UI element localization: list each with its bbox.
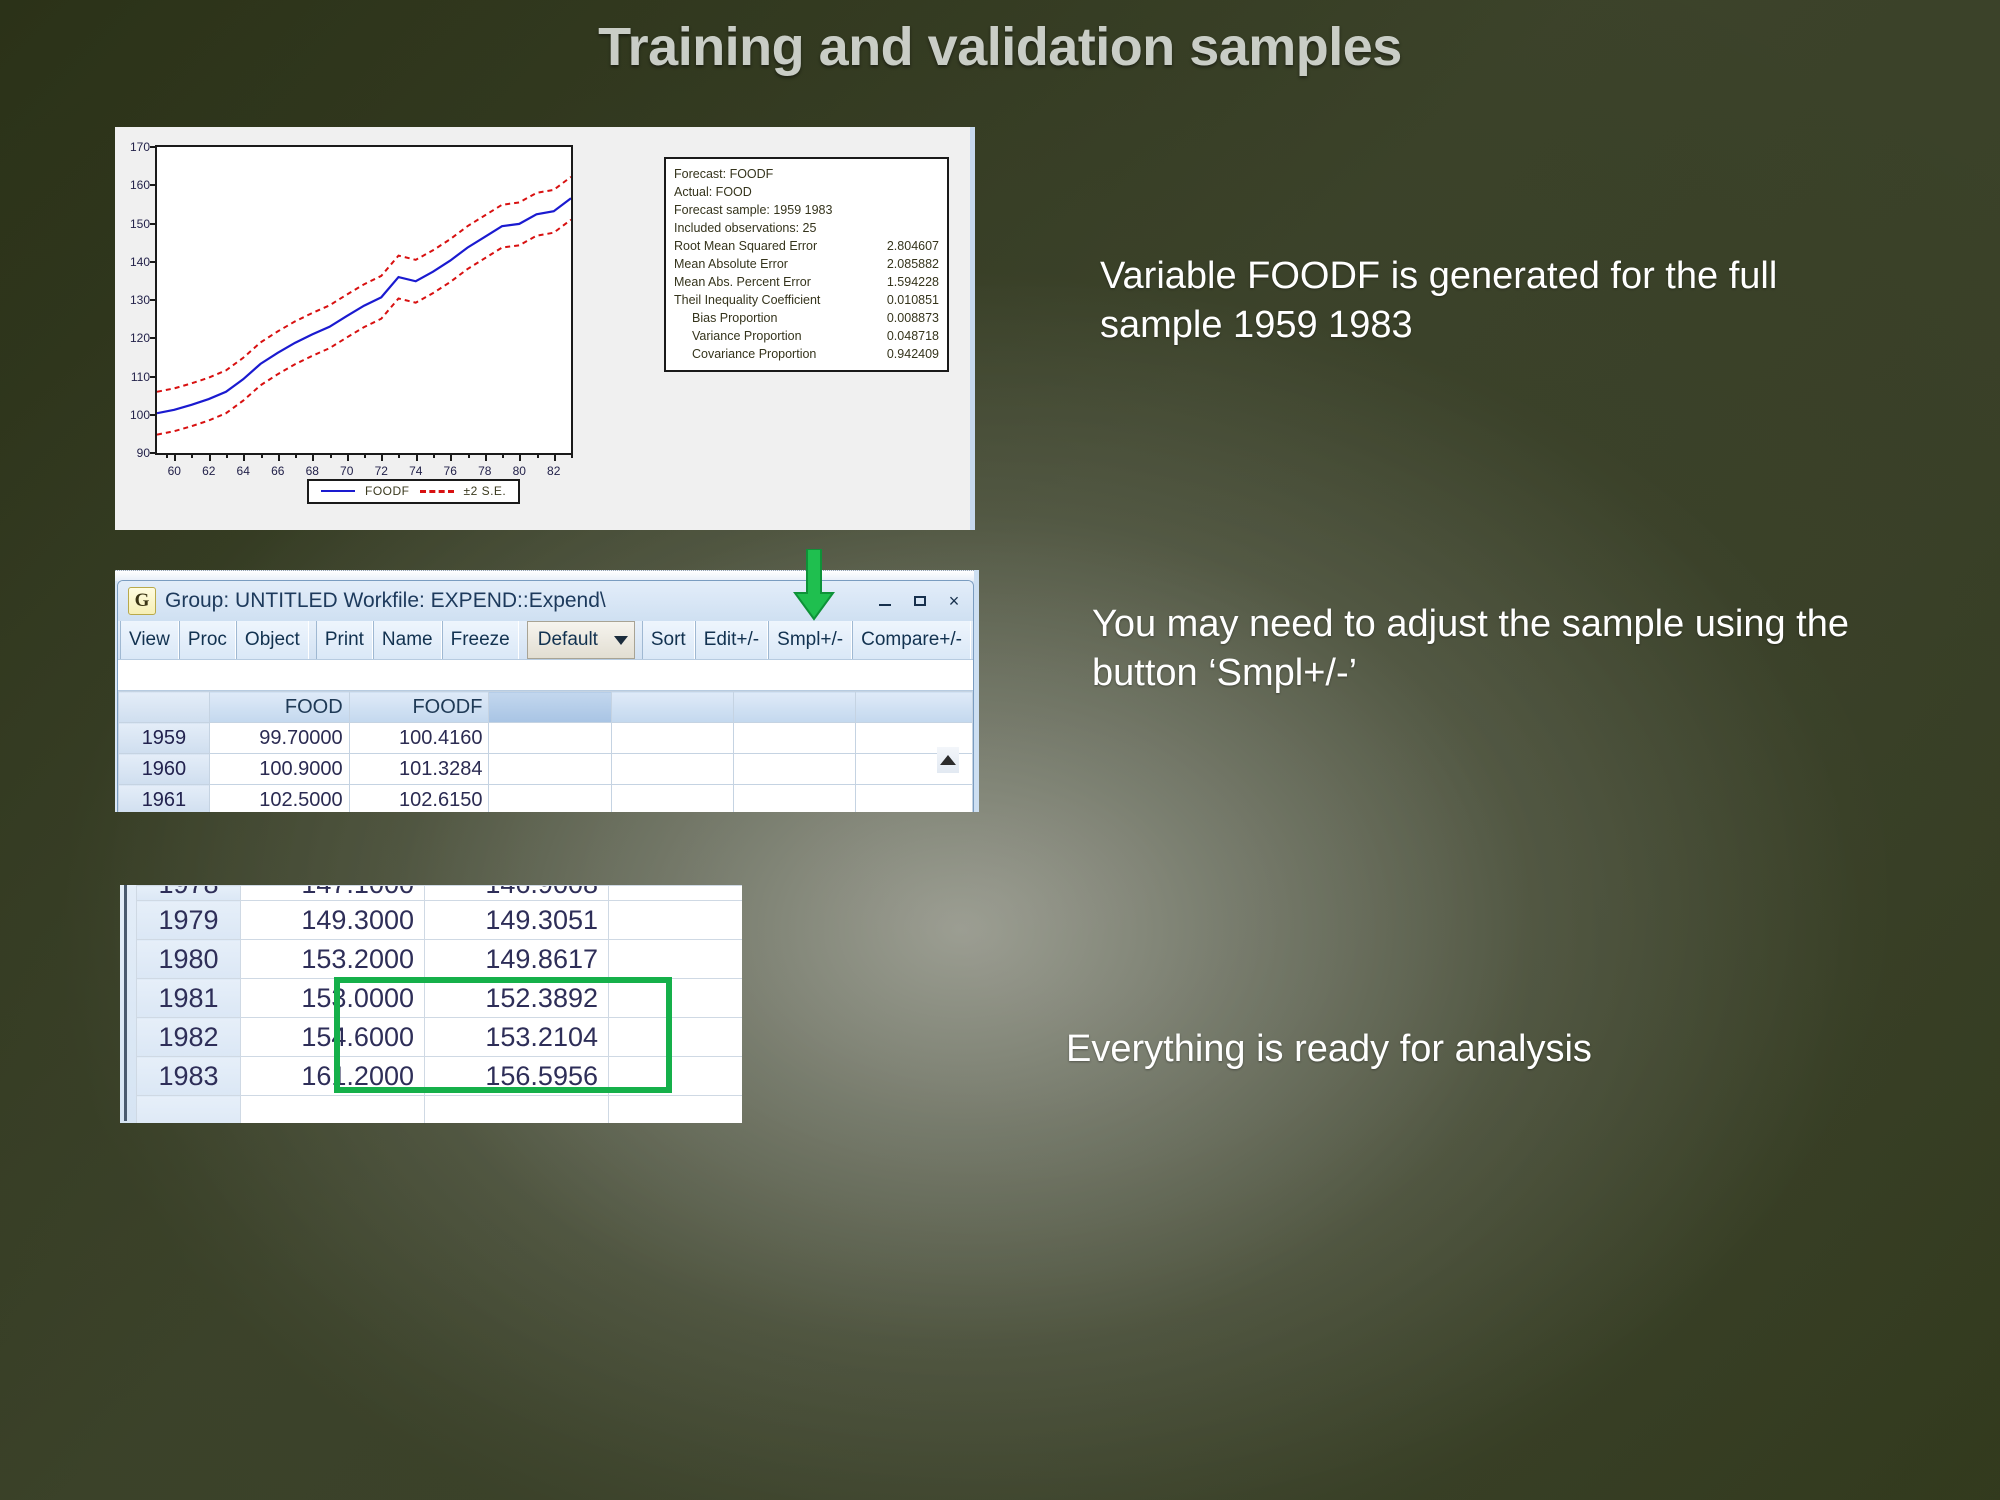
x-tick-80: 80: [513, 464, 526, 478]
cell-food[interactable]: 153.2000: [241, 940, 425, 979]
y-tick-120: 120: [130, 331, 150, 345]
cell-food[interactable]: 161.2000: [241, 1057, 425, 1096]
row-year: 1980: [137, 940, 241, 979]
forecast-graph-screenshot: 170 160 150 140 130 120 110 100 90: [115, 127, 975, 530]
cell-empty[interactable]: [609, 1018, 743, 1057]
toolbar-button-freeze[interactable]: Freeze: [442, 621, 519, 659]
window-title: Group: UNTITLED Workfile: EXPEND::Expend…: [165, 589, 606, 613]
y-tick-150: 150: [130, 217, 150, 231]
cell-foodf[interactable]: 101.3284: [349, 754, 489, 785]
window-toolbar: View Proc Object Print Name Freeze Defau…: [118, 621, 973, 659]
table-row[interactable]: 1981 153.0000 152.3892: [137, 979, 743, 1018]
forecast-plot-area: 170 160 150 140 130 120 110 100 90: [155, 145, 573, 455]
row-year: 1981: [137, 979, 241, 1018]
toolbar-button-view[interactable]: View: [120, 621, 179, 659]
cell-foodf[interactable]: 149.8617: [425, 940, 609, 979]
cell-food[interactable]: 149.3000: [241, 901, 425, 940]
cell-food[interactable]: 102.5000: [209, 785, 349, 813]
table-row-clipped[interactable]: 1978 147.1000 146.9008: [137, 886, 743, 901]
cell-empty[interactable]: [425, 1096, 609, 1124]
y-tick-140: 140: [130, 255, 150, 269]
eviews-group-window-screenshot: G Group: UNTITLED Workfile: EXPEND::Expe…: [115, 570, 979, 812]
window-command-strip: [118, 659, 973, 691]
stat-row-bias: Bias Proportion 0.008873: [674, 309, 939, 327]
cell-empty[interactable]: [611, 785, 733, 813]
legend-label-foodf: FOODF: [365, 484, 410, 498]
toolbar-button-name[interactable]: Name: [373, 621, 442, 659]
cell-foodf[interactable]: 146.9008: [425, 886, 609, 901]
stat-value: 0.942409: [887, 345, 939, 363]
stat-label: Root Mean Squared Error: [674, 237, 817, 255]
cell-empty[interactable]: [609, 886, 743, 901]
scroll-up-arrow-icon[interactable]: [937, 747, 959, 773]
cell-food[interactable]: 147.1000: [241, 886, 425, 901]
stat-row-covariance: Covariance Proportion 0.942409: [674, 345, 939, 363]
grid-col-food[interactable]: FOOD: [209, 692, 349, 723]
grid-col-foodf[interactable]: FOODF: [349, 692, 489, 723]
table-row[interactable]: 1983 161.2000 156.5956: [137, 1057, 743, 1096]
stat-label: Bias Proportion: [674, 309, 777, 327]
view-mode-select[interactable]: Default: [527, 621, 635, 659]
cell-empty[interactable]: [489, 785, 611, 813]
cell-foodf[interactable]: 156.5956: [425, 1057, 609, 1096]
grid-col-empty-1[interactable]: [489, 692, 611, 723]
cell-empty[interactable]: [611, 754, 733, 785]
cell-empty[interactable]: [611, 723, 733, 754]
minimize-icon[interactable]: [877, 592, 895, 610]
stat-label: Covariance Proportion: [674, 345, 816, 363]
stat-label: Variance Proportion: [674, 327, 802, 345]
maximize-icon[interactable]: [911, 592, 929, 610]
group-data-grid: FOOD FOODF 1959 99.70000 100.4160: [118, 691, 973, 812]
cell-empty[interactable]: [241, 1096, 425, 1124]
sample-rows-table-screenshot: 1978 147.1000 146.9008 1979 149.3000 149…: [120, 885, 742, 1123]
grid-header-row: FOOD FOODF: [119, 692, 973, 723]
x-tick-64: 64: [237, 464, 250, 478]
cell-empty[interactable]: [609, 901, 743, 940]
x-tick-70: 70: [340, 464, 353, 478]
table-row[interactable]: 1961 102.5000 102.6150: [119, 785, 973, 813]
stat-value: 0.010851: [887, 291, 939, 309]
bullet-text-2: You may need to adjust the sample using …: [1092, 600, 1852, 697]
cell-empty[interactable]: [609, 1057, 743, 1096]
cell-empty[interactable]: [734, 785, 856, 813]
row-year-empty: [137, 1096, 241, 1124]
toolbar-button-object[interactable]: Object: [236, 621, 309, 659]
table-row[interactable]: 1960 100.9000 101.3284: [119, 754, 973, 785]
toolbar-button-sort[interactable]: Sort: [642, 621, 695, 659]
window-titlebar: G Group: UNTITLED Workfile: EXPEND::Expe…: [118, 581, 973, 621]
table-row[interactable]: 1959 99.70000 100.4160: [119, 723, 973, 754]
row-year-text: 1978: [147, 886, 230, 901]
stat-row-mae: Mean Absolute Error 2.085882: [674, 255, 939, 273]
grid-col-empty-3[interactable]: [734, 692, 856, 723]
table-row[interactable]: 1979 149.3000 149.3051: [137, 901, 743, 940]
table-row[interactable]: 1982 154.6000 153.2104: [137, 1018, 743, 1057]
table-row-empty[interactable]: [137, 1096, 743, 1124]
cell-foodf[interactable]: 153.2104: [425, 1018, 609, 1057]
stat-value: 1.594228: [887, 273, 939, 291]
stat-row-variance: Variance Proportion 0.048718: [674, 327, 939, 345]
table-rail-bar: [124, 885, 127, 1121]
cell-food-text: 147.1000: [251, 886, 414, 901]
cell-empty[interactable]: [609, 979, 743, 1018]
toolbar-button-compare-plus-minus[interactable]: Compare+/-: [852, 621, 971, 659]
row-year: 1960: [119, 754, 210, 785]
x-tick-74: 74: [409, 464, 422, 478]
cell-empty[interactable]: [609, 940, 743, 979]
grid-col-empty-2[interactable]: [611, 692, 733, 723]
slide-canvas: Training and validation samples 170 160 …: [0, 0, 2000, 1500]
table-left-rail: [120, 885, 137, 1123]
x-tick-66: 66: [271, 464, 284, 478]
bullet-text-1: Variable FOODF is generated for the full…: [1100, 252, 1860, 349]
cell-foodf-text: 146.9008: [435, 886, 598, 901]
stat-forecast: Forecast: FOODF: [674, 165, 939, 183]
cell-empty[interactable]: [489, 723, 611, 754]
toolbar-button-smpl-plus-minus[interactable]: Smpl+/-: [768, 621, 852, 659]
legend-swatch-se: [420, 490, 454, 493]
stat-value: 2.085882: [887, 255, 939, 273]
cell-foodf[interactable]: 149.3051: [425, 901, 609, 940]
cell-foodf[interactable]: 100.4160: [349, 723, 489, 754]
green-down-arrow-annotation: [792, 549, 836, 621]
cell-food[interactable]: 153.0000: [241, 979, 425, 1018]
cell-empty[interactable]: [734, 723, 856, 754]
legend-label-se: ±2 S.E.: [464, 484, 507, 498]
stat-label: Theil Inequality Coefficient: [674, 291, 820, 309]
page-title: Training and validation samples: [0, 16, 2000, 78]
cell-foodf[interactable]: 102.6150: [349, 785, 489, 813]
cell-food[interactable]: 99.70000: [209, 723, 349, 754]
x-tick-68: 68: [306, 464, 319, 478]
y-tick-90: 90: [137, 446, 150, 460]
forecast-series-lines: [157, 147, 571, 453]
cell-empty[interactable]: [609, 1096, 743, 1124]
close-icon[interactable]: ×: [945, 592, 963, 610]
chart-legend: FOODF ±2 S.E.: [307, 479, 520, 504]
x-tick-62: 62: [202, 464, 215, 478]
stat-row-theil: Theil Inequality Coefficient 0.010851: [674, 291, 939, 309]
window-controls: ×: [877, 592, 963, 610]
bottom-data-table: 1978 147.1000 146.9008 1979 149.3000 149…: [136, 885, 742, 1123]
row-year: 1983: [137, 1057, 241, 1096]
stat-value: 0.048718: [887, 327, 939, 345]
stat-included-observations: Included observations: 25: [674, 219, 939, 237]
stat-label: Mean Abs. Percent Error: [674, 273, 811, 291]
x-tick-82: 82: [547, 464, 560, 478]
row-year: 1982: [137, 1018, 241, 1057]
view-mode-value: Default: [538, 629, 598, 651]
cell-food[interactable]: 154.6000: [241, 1018, 425, 1057]
y-tick-130: 130: [130, 293, 150, 307]
chevron-down-icon: [614, 636, 628, 645]
cell-empty[interactable]: [489, 754, 611, 785]
toolbar-button-edit-plus-minus[interactable]: Edit+/-: [695, 621, 768, 659]
x-tick-72: 72: [375, 464, 388, 478]
legend-swatch-foodf: [321, 490, 355, 492]
group-icon: G: [128, 587, 156, 615]
table-row[interactable]: 1980 153.2000 149.8617: [137, 940, 743, 979]
y-tick-100: 100: [130, 408, 150, 422]
stat-row-mape: Mean Abs. Percent Error 1.594228: [674, 273, 939, 291]
x-tick-76: 76: [444, 464, 457, 478]
row-year: 1979: [137, 901, 241, 940]
stat-value: 2.804607: [887, 237, 939, 255]
stat-forecast-sample: Forecast sample: 1959 1983: [674, 201, 939, 219]
eviews-window: G Group: UNTITLED Workfile: EXPEND::Expe…: [117, 580, 974, 812]
cell-food[interactable]: 100.9000: [209, 754, 349, 785]
row-year: 1961: [119, 785, 210, 813]
toolbar-button-proc[interactable]: Proc: [179, 621, 236, 659]
row-year: 1959: [119, 723, 210, 754]
cell-empty[interactable]: [734, 754, 856, 785]
grid-col-empty-4[interactable]: [856, 692, 973, 723]
y-tick-170: 170: [130, 140, 150, 154]
stat-row-rmse: Root Mean Squared Error 2.804607: [674, 237, 939, 255]
stat-actual: Actual: FOOD: [674, 183, 939, 201]
toolbar-button-print[interactable]: Print: [316, 621, 373, 659]
x-tick-60: 60: [168, 464, 181, 478]
row-year: 1978: [137, 886, 241, 901]
grid-corner[interactable]: [119, 692, 210, 723]
bullet-text-3: Everything is ready for analysis: [1066, 1025, 1826, 1074]
stat-value: 0.008873: [887, 309, 939, 327]
stat-label: Mean Absolute Error: [674, 255, 788, 273]
y-tick-110: 110: [131, 370, 150, 384]
cell-foodf[interactable]: 152.3892: [425, 979, 609, 1018]
x-tick-78: 78: [478, 464, 491, 478]
forecast-statistics-box: Forecast: FOODF Actual: FOOD Forecast sa…: [664, 157, 949, 372]
cell-empty[interactable]: [856, 785, 973, 813]
y-tick-160: 160: [130, 178, 150, 192]
